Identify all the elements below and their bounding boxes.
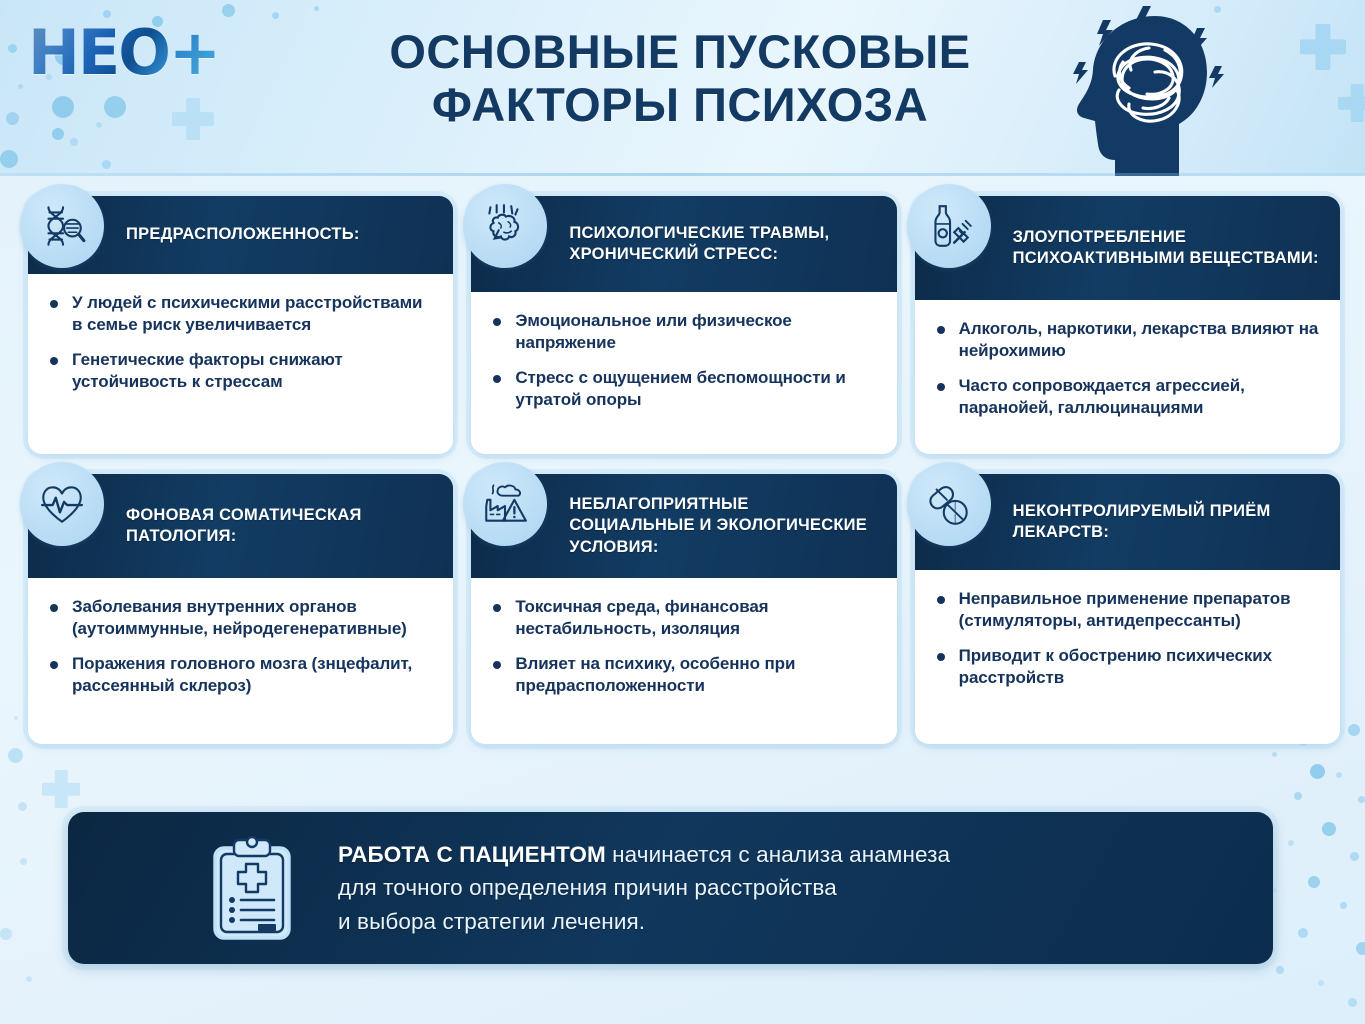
- card-bullet-list: Эмоциональное или физическое напряжение …: [489, 310, 876, 411]
- card-bullet-list: Неправильное применение препаратов (стим…: [933, 588, 1320, 689]
- head-with-tangled-thoughts-icon: [1057, 4, 1233, 176]
- decor-dot: [1358, 796, 1365, 803]
- decor-dot: [1348, 998, 1357, 1007]
- card-trauma-stress[interactable]: ПСИХОЛОГИЧЕСКИЕ ТРАВМЫ, ХРОНИЧЕСКИЙ СТРЕ…: [471, 196, 896, 454]
- list-item: Приводит к обострению психических расстр…: [933, 645, 1320, 689]
- decor-dot: [104, 96, 126, 118]
- card-bullet-list: Заболевания внутренних органов (аутоимму…: [46, 596, 433, 697]
- list-item: Стресс с ощущением беспомощности и утрат…: [489, 367, 876, 411]
- bottle-syringe-icon: [907, 184, 991, 268]
- banner-text: РАБОТА С ПАЦИЕНТОМ начинается с анализа …: [338, 838, 950, 938]
- stressed-brain-icon: [463, 184, 547, 268]
- factory-warning-icon: [463, 462, 547, 546]
- decor-dot: [96, 122, 102, 128]
- summary-banner: РАБОТА С ПАЦИЕНТОМ начинается с анализа …: [68, 812, 1273, 964]
- list-item: Эмоциональное или физическое напряжение: [489, 310, 876, 354]
- card-bullet-list: Токсичная среда, финансовая нестабильнос…: [489, 596, 876, 697]
- decor-dot: [18, 84, 23, 89]
- decor-dot: [6, 112, 19, 125]
- list-item: Токсичная среда, финансовая нестабильнос…: [489, 596, 876, 640]
- decor-dot: [1288, 840, 1294, 846]
- decor-dot: [1298, 928, 1308, 938]
- decor-dot: [70, 138, 78, 146]
- card-body: Эмоциональное или физическое напряжение …: [471, 292, 896, 454]
- list-item: Часто сопровождается агрессией, паранойе…: [933, 375, 1320, 419]
- page-title-line-1: ОСНОВНЫЕ ПУСКОВЫЕ: [300, 26, 1060, 79]
- list-item: Влияет на психику, особенно при предрасп…: [489, 653, 876, 697]
- decor-dot: [8, 748, 23, 763]
- banner-rest: начинается с анализа анамнеза: [606, 842, 950, 867]
- card-bullet-list: У людей с психическими расстройствами в …: [46, 292, 433, 393]
- decor-dot: [1350, 852, 1359, 861]
- decor-dot: [18, 802, 27, 811]
- list-item: Неправильное применение препаратов (стим…: [933, 588, 1320, 632]
- heart-pulse-icon: [20, 462, 104, 546]
- card-somatic-pathology[interactable]: ФОНОВАЯ СОМАТИЧЕСКАЯ ПАТОЛОГИЯ: Заболева…: [28, 474, 453, 744]
- decor-dot: [222, 4, 235, 17]
- card-title: ФОНОВАЯ СОМАТИЧЕСКАЯ ПАТОЛОГИЯ:: [126, 505, 435, 547]
- card-title: НЕБЛАГОПРИЯТНЫЕ СОЦИАЛЬНЫЕ И ЭКОЛОГИЧЕСК…: [569, 494, 878, 557]
- decor-plus-icon: [1300, 24, 1346, 70]
- decor-dot: [0, 928, 12, 940]
- list-item: Заболевания внутренних органов (аутоимму…: [46, 596, 433, 640]
- card-title: ПСИХОЛОГИЧЕСКИЕ ТРАВМЫ, ХРОНИЧЕСКИЙ СТРЕ…: [569, 223, 878, 265]
- decor-dot: [1348, 724, 1360, 736]
- card-header: НЕКОНТРОЛИРУЕМЫЙ ПРИЁМ ЛЕКАРСТВ:: [915, 474, 1340, 570]
- card-substance-abuse[interactable]: ЗЛОУПОТРЕБЛЕНИЕ ПСИХОАКТИВНЫМИ ВЕЩЕСТВАМ…: [915, 196, 1340, 454]
- card-body: Токсичная среда, финансовая нестабильнос…: [471, 578, 896, 744]
- card-social-ecological[interactable]: НЕБЛАГОПРИЯТНЫЕ СОЦИАЛЬНЫЕ И ЭКОЛОГИЧЕСК…: [471, 474, 896, 744]
- card-title: НЕКОНТРОЛИРУЕМЫЙ ПРИЁМ ЛЕКАРСТВ:: [1013, 501, 1322, 543]
- cards-row-1: ПРЕДРАСПОЛОЖЕННОСТЬ: У людей с психическ…: [28, 196, 1340, 454]
- card-body: Заболевания внутренних органов (аутоимму…: [28, 578, 453, 744]
- list-item: Алкоголь, наркотики, лекарства влияют на…: [933, 318, 1320, 362]
- decor-dot: [1336, 772, 1342, 778]
- list-item: Генетические факторы снижают устойчивост…: [46, 349, 433, 393]
- banner-lead: РАБОТА С ПАЦИЕНТОМ: [338, 842, 606, 867]
- page-title: ОСНОВНЫЕ ПУСКОВЫЕ ФАКТОРЫ ПСИХОЗА: [300, 26, 1060, 131]
- banner-line-1: РАБОТА С ПАЦИЕНТОМ начинается с анализа …: [338, 838, 950, 871]
- card-bullet-list: Алкоголь, наркотики, лекарства влияют на…: [933, 318, 1320, 419]
- list-item: У людей с психическими расстройствами в …: [46, 292, 433, 336]
- pills-icon: [907, 462, 991, 546]
- card-header: ПСИХОЛОГИЧЕСКИЕ ТРАВМЫ, ХРОНИЧЕСКИЙ СТРЕ…: [471, 196, 896, 292]
- decor-dot: [1318, 980, 1324, 986]
- list-item: Поражения головного мозга (знцефалит, ра…: [46, 653, 433, 697]
- decor-dot: [8, 44, 17, 53]
- decor-dot: [1272, 752, 1277, 757]
- decor-dot: [1294, 792, 1302, 800]
- decor-dot: [52, 96, 74, 118]
- card-body: Алкоголь, наркотики, лекарства влияют на…: [915, 300, 1340, 454]
- cards-row-2: ФОНОВАЯ СОМАТИЧЕСКАЯ ПАТОЛОГИЯ: Заболева…: [28, 474, 1340, 744]
- decor-dot: [314, 6, 319, 11]
- banner-line-3: и выбора стратегии лечения.: [338, 905, 950, 938]
- card-header: ЗЛОУПОТРЕБЛЕНИЕ ПСИХОАКТИВНЫМИ ВЕЩЕСТВАМ…: [915, 196, 1340, 300]
- card-body: У людей с психическими расстройствами в …: [28, 274, 453, 454]
- card-body: Неправильное применение препаратов (стим…: [915, 570, 1340, 744]
- card-header: ПРЕДРАСПОЛОЖЕННОСТЬ:: [28, 196, 453, 274]
- card-header: ФОНОВАЯ СОМАТИЧЕСКАЯ ПАТОЛОГИЯ:: [28, 474, 453, 578]
- header-band: НЕО+ ОСНОВНЫЕ ПУСКОВЫЕ ФАКТОРЫ ПСИХОЗА: [0, 0, 1365, 176]
- decor-dot: [1356, 942, 1365, 955]
- decor-dot: [1276, 966, 1284, 974]
- decor-dot: [102, 160, 111, 169]
- card-predisposition[interactable]: ПРЕДРАСПОЛОЖЕННОСТЬ: У людей с психическ…: [28, 196, 453, 454]
- decor-dot: [1322, 822, 1336, 836]
- decor-dot: [0, 150, 18, 168]
- decor-dot: [20, 858, 27, 865]
- decor-dot: [1310, 764, 1325, 779]
- card-title: ПРЕДРАСПОЛОЖЕННОСТЬ:: [126, 224, 360, 245]
- page-title-line-2: ФАКТОРЫ ПСИХОЗА: [300, 79, 1060, 132]
- decor-dot: [1340, 902, 1347, 909]
- banner-line-2: для точного определения причин расстройс…: [338, 871, 950, 904]
- brand-logo[interactable]: НЕО+: [28, 22, 219, 84]
- clipboard-medical-icon: [206, 834, 298, 942]
- card-uncontrolled-medication[interactable]: НЕКОНТРОЛИРУЕМЫЙ ПРИЁМ ЛЕКАРСТВ: Неправи…: [915, 474, 1340, 744]
- decor-dot: [1308, 876, 1320, 888]
- decor-dot: [52, 128, 64, 140]
- decor-plus-icon: [1338, 84, 1365, 122]
- dna-magnifier-icon: [20, 184, 104, 268]
- factor-cards-grid: ПРЕДРАСПОЛОЖЕННОСТЬ: У людей с психическ…: [28, 196, 1340, 744]
- decor-plus-icon: [172, 98, 214, 140]
- card-title: ЗЛОУПОТРЕБЛЕНИЕ ПСИХОАКТИВНЫМИ ВЕЩЕСТВАМ…: [1013, 227, 1322, 269]
- decor-dot: [14, 716, 18, 720]
- decor-plus-icon: [42, 770, 80, 808]
- card-header: НЕБЛАГОПРИЯТНЫЕ СОЦИАЛЬНЫЕ И ЭКОЛОГИЧЕСК…: [471, 474, 896, 578]
- decor-dot: [272, 12, 279, 19]
- decor-dot: [26, 976, 32, 982]
- infographic-root: НЕО+ ОСНОВНЫЕ ПУСКОВЫЕ ФАКТОРЫ ПСИХОЗА: [0, 0, 1365, 1024]
